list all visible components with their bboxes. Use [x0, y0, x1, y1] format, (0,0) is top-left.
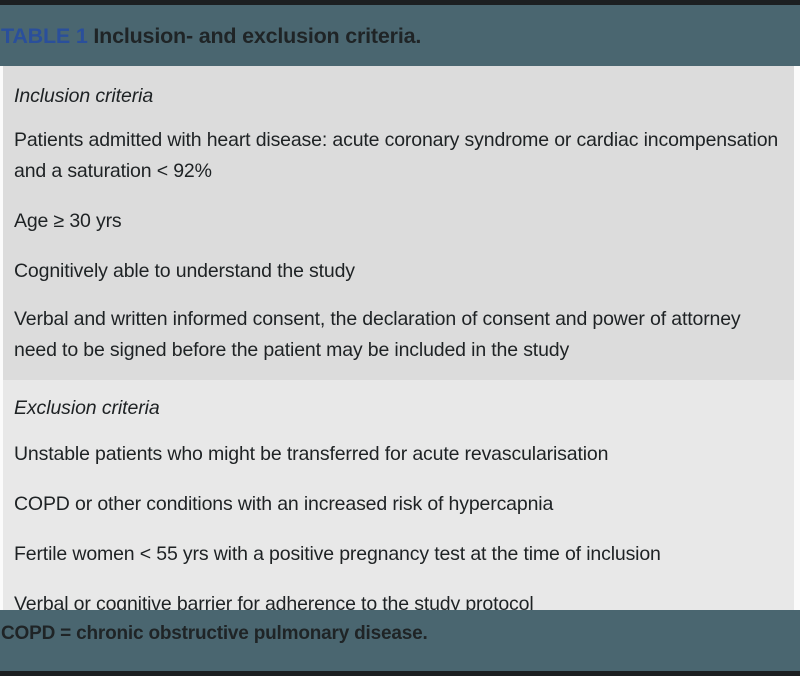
table-number: TABLE 1	[1, 24, 88, 48]
exclusion-criteria-list: Unstable patients who might be transferr…	[14, 439, 783, 620]
list-item: Age ≥ 30 yrs	[14, 206, 783, 237]
table-footnote: COPD = chronic obstructive pulmonary dis…	[0, 610, 800, 671]
list-item: Patients admitted with heart disease: ac…	[14, 125, 783, 187]
table-figure: TABLE 1 Inclusion- and exclusion criteri…	[0, 0, 800, 676]
table-body: Inclusion criteria Patients admitted wit…	[0, 66, 800, 610]
table-title: Inclusion- and exclusion criteria.	[93, 24, 421, 48]
table-header: TABLE 1 Inclusion- and exclusion criteri…	[0, 5, 800, 66]
list-item: Fertile women < 55 yrs with a positive p…	[14, 539, 783, 570]
section-heading-inclusion: Inclusion criteria	[14, 84, 783, 108]
list-item: Unstable patients who might be transferr…	[14, 439, 783, 470]
list-item: Verbal and written informed consent, the…	[14, 304, 783, 366]
section-inclusion: Inclusion criteria Patients admitted wit…	[3, 66, 794, 380]
table-caption: TABLE 1 Inclusion- and exclusion criteri…	[1, 23, 421, 49]
section-heading-exclusion: Exclusion criteria	[14, 396, 783, 420]
inclusion-criteria-list: Patients admitted with heart disease: ac…	[14, 125, 783, 366]
list-item: Cognitively able to understand the study	[14, 256, 783, 287]
list-item: COPD or other conditions with an increas…	[14, 489, 783, 520]
footnote-abbreviation: COPD = chronic obstructive pulmonary dis…	[1, 622, 428, 646]
bottom-rule	[0, 671, 800, 676]
section-exclusion: Exclusion criteria Unstable patients who…	[3, 380, 794, 610]
